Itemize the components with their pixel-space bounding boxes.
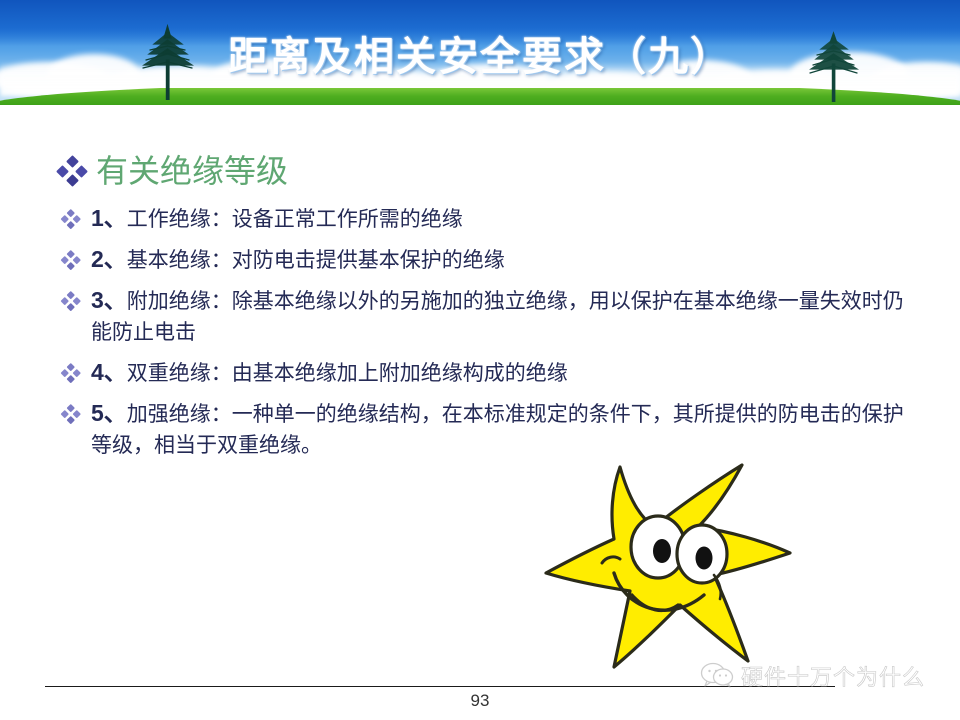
list-item-number: 5、 — [91, 400, 127, 426]
list-item-text: 2、基本绝缘：对防电击提供基本保护的绝缘 — [91, 244, 910, 276]
diamond-bullet-icon — [62, 251, 79, 268]
watermark-text: 硬件十万个为什么 — [741, 665, 925, 691]
banner-bottom-edge — [0, 105, 960, 110]
diamond-bullet-icon — [58, 157, 86, 185]
list-item: 1、工作绝缘：设备正常工作所需的绝缘 — [62, 203, 910, 235]
list-item-number: 3、 — [91, 287, 127, 313]
page-title: 距离及相关安全要求（九） — [0, 34, 960, 80]
list-item-text: 4、双重绝缘：由基本绝缘加上附加绝缘构成的绝缘 — [91, 357, 910, 389]
list-item-body: 双重绝缘：由基本绝缘加上附加绝缘构成的绝缘 — [127, 361, 568, 385]
wechat-icon — [700, 662, 734, 693]
header-banner: 距离及相关安全要求（九） — [0, 0, 960, 110]
page-number: 93 — [0, 690, 960, 712]
slide: 距离及相关安全要求（九） 有关绝缘等级 1、工作绝缘：设备正常工作所需的绝缘 — [0, 0, 960, 720]
list-item-number: 1、 — [91, 205, 127, 231]
list-item-text: 5、加强绝缘：一种单一的绝缘结构，在本标准规定的条件下，其所提供的防电击的保护等… — [91, 398, 910, 461]
list-item-body: 附加绝缘：除基本绝缘以外的另施加的独立绝缘，用以保护在基本绝缘一量失效时仍能防止… — [91, 289, 904, 344]
diamond-bullet-icon — [62, 364, 79, 381]
watermark: 硬件十万个为什么 — [700, 662, 925, 693]
section-heading: 有关绝缘等级 — [58, 152, 288, 190]
smiling-star-icon — [528, 455, 796, 670]
list-item-number: 2、 — [91, 246, 127, 272]
diamond-bullet-icon — [62, 210, 79, 227]
list-item: 2、基本绝缘：对防电击提供基本保护的绝缘 — [62, 244, 910, 276]
list-item: 5、加强绝缘：一种单一的绝缘结构，在本标准规定的条件下，其所提供的防电击的保护等… — [62, 398, 910, 461]
diamond-bullet-icon — [62, 292, 79, 309]
diamond-bullet-icon — [62, 405, 79, 422]
bullet-list: 1、工作绝缘：设备正常工作所需的绝缘 2、基本绝缘：对防电击提供基本保护的绝缘 … — [62, 203, 910, 470]
list-item-text: 1、工作绝缘：设备正常工作所需的绝缘 — [91, 203, 910, 235]
list-item-number: 4、 — [91, 359, 127, 385]
list-item-body: 加强绝缘：一种单一的绝缘结构，在本标准规定的条件下，其所提供的防电击的保护等级，… — [91, 402, 904, 457]
list-item-body: 工作绝缘：设备正常工作所需的绝缘 — [127, 207, 463, 231]
list-item: 4、双重绝缘：由基本绝缘加上附加绝缘构成的绝缘 — [62, 357, 910, 389]
section-heading-label: 有关绝缘等级 — [96, 152, 288, 190]
list-item-body: 基本绝缘：对防电击提供基本保护的绝缘 — [127, 248, 505, 272]
list-item: 3、附加绝缘：除基本绝缘以外的另施加的独立绝缘，用以保护在基本绝缘一量失效时仍能… — [62, 285, 910, 348]
list-item-text: 3、附加绝缘：除基本绝缘以外的另施加的独立绝缘，用以保护在基本绝缘一量失效时仍能… — [91, 285, 910, 348]
